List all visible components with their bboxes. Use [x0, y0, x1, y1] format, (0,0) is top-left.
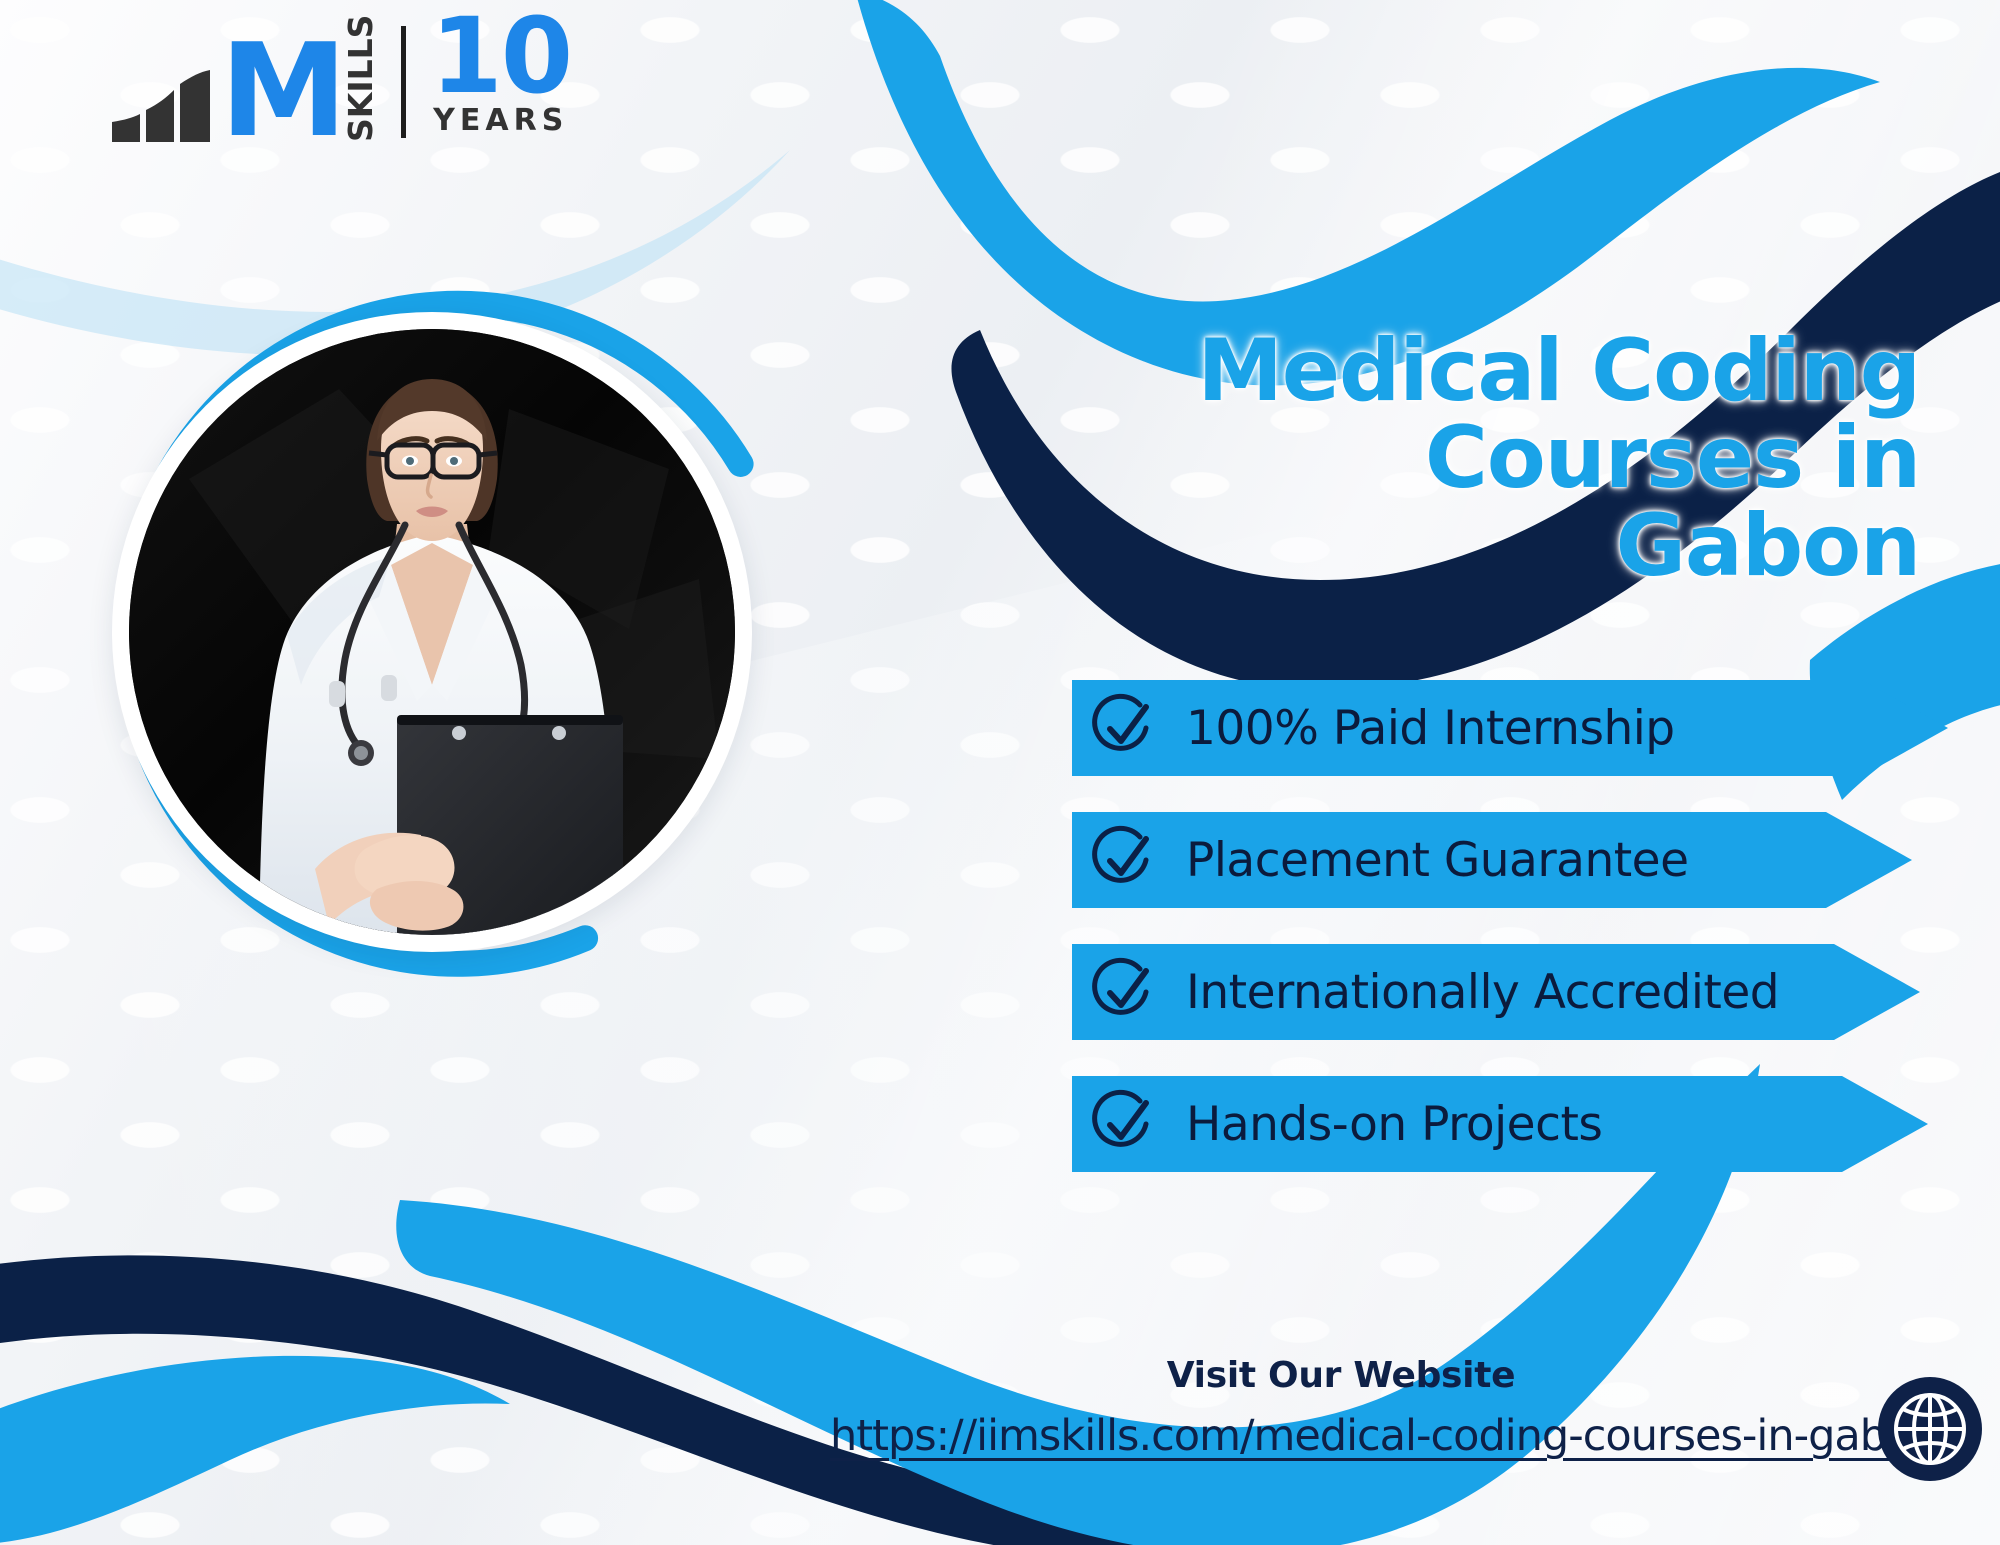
feature-label: Hands-on Projects: [1186, 1097, 1602, 1152]
feature-item[interactable]: Hands-on Projects: [1072, 1076, 1952, 1172]
title-line-1: Medical Coding: [860, 328, 1920, 416]
logo-divider: [401, 26, 406, 138]
logo-years-number: 10: [430, 14, 571, 99]
bar-chart-icon: [110, 70, 230, 142]
feature-label: Placement Guarantee: [1186, 833, 1689, 888]
brand-logo[interactable]: M SKILLS 10 YEARS: [110, 22, 571, 142]
feature-item[interactable]: 100% Paid Internship: [1072, 680, 1952, 776]
logo-years-label: YEARS: [433, 103, 568, 138]
footer: Visit Our Website https://iimskills.com/…: [830, 1351, 2000, 1501]
portrait-frame: [112, 312, 752, 952]
feature-label: Internationally Accredited: [1186, 965, 1779, 1020]
title-line-2: Courses in: [860, 415, 1920, 503]
feature-content: Hands-on Projects: [1072, 1076, 1952, 1172]
logo-mark: M SKILLS: [110, 26, 377, 142]
logo-letter-m: M: [220, 42, 342, 142]
feature-label: 100% Paid Internship: [1186, 701, 1675, 756]
check-circle-icon: [1086, 1087, 1160, 1161]
feature-content: 100% Paid Internship: [1072, 680, 1952, 776]
logo-anniversary: 10 YEARS: [430, 14, 571, 142]
check-circle-icon: [1086, 691, 1160, 765]
title-line-3: Gabon: [860, 503, 1920, 591]
visit-website-label: Visit Our Website: [830, 1355, 1852, 1396]
feature-item[interactable]: Internationally Accredited: [1072, 944, 1952, 1040]
poster-canvas: M SKILLS 10 YEARS: [0, 0, 2000, 1545]
page-title: Medical Coding Courses in Gabon: [860, 328, 1920, 591]
doctor-photo: [129, 329, 735, 935]
feature-content: Internationally Accredited: [1072, 944, 1952, 1040]
website-url-link[interactable]: https://iimskills.com/medical-coding-cou…: [830, 1411, 1870, 1461]
feature-content: Placement Guarantee: [1072, 812, 1952, 908]
check-circle-icon: [1086, 823, 1160, 897]
feature-list: 100% Paid Internship Placement Guarantee: [1072, 680, 1952, 1208]
logo-word-skills: SKILLS: [344, 26, 377, 142]
portrait-block: [72, 290, 772, 990]
check-circle-icon: [1086, 955, 1160, 1029]
portrait-image: [129, 329, 735, 935]
globe-icon[interactable]: [1876, 1375, 1984, 1483]
feature-item[interactable]: Placement Guarantee: [1072, 812, 1952, 908]
